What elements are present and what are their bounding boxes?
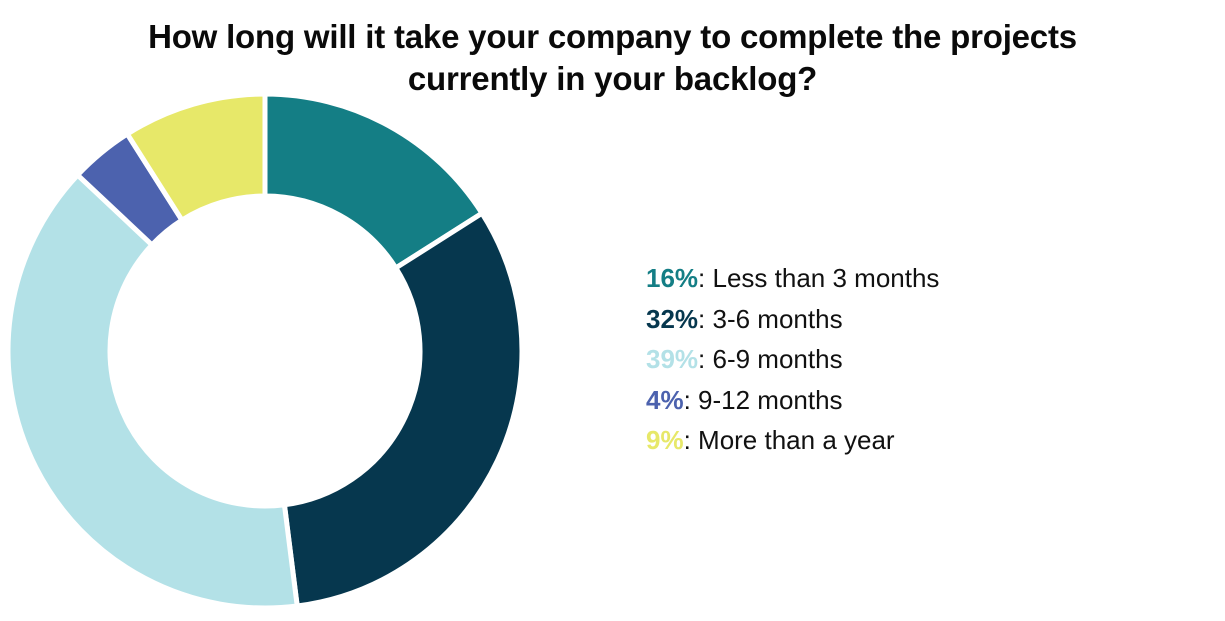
legend-percent: 32% xyxy=(646,304,698,334)
chart-page: How long will it take your company to co… xyxy=(0,0,1225,621)
legend-separator: : xyxy=(684,425,698,455)
legend-percent: 39% xyxy=(646,344,698,374)
donut-chart-svg xyxy=(0,0,640,621)
legend-item-9-12-months: 4%: 9-12 months xyxy=(646,380,1186,421)
legend-separator: : xyxy=(698,304,712,334)
legend-item-3-6-months: 32%: 3-6 months xyxy=(646,299,1186,340)
legend-item-6-9-months: 39%: 6-9 months xyxy=(646,339,1186,380)
legend-label: 3-6 months xyxy=(713,304,843,334)
donut-segment xyxy=(284,213,522,606)
legend-percent: 9% xyxy=(646,425,684,455)
legend-separator: : xyxy=(684,385,698,415)
legend-separator: : xyxy=(698,344,712,374)
legend-separator: : xyxy=(698,263,712,293)
legend-percent: 4% xyxy=(646,385,684,415)
donut-chart xyxy=(0,0,640,621)
legend-percent: 16% xyxy=(646,263,698,293)
legend-label: 9-12 months xyxy=(698,385,843,415)
legend-item-more-than-a-year: 9%: More than a year xyxy=(646,420,1186,461)
donut-segments xyxy=(8,94,522,608)
chart-legend: 16%: Less than 3 months 32%: 3-6 months … xyxy=(646,258,1186,461)
legend-label: More than a year xyxy=(698,425,895,455)
legend-label: 6-9 months xyxy=(713,344,843,374)
legend-item-less-than-3-months: 16%: Less than 3 months xyxy=(646,258,1186,299)
legend-label: Less than 3 months xyxy=(713,263,940,293)
